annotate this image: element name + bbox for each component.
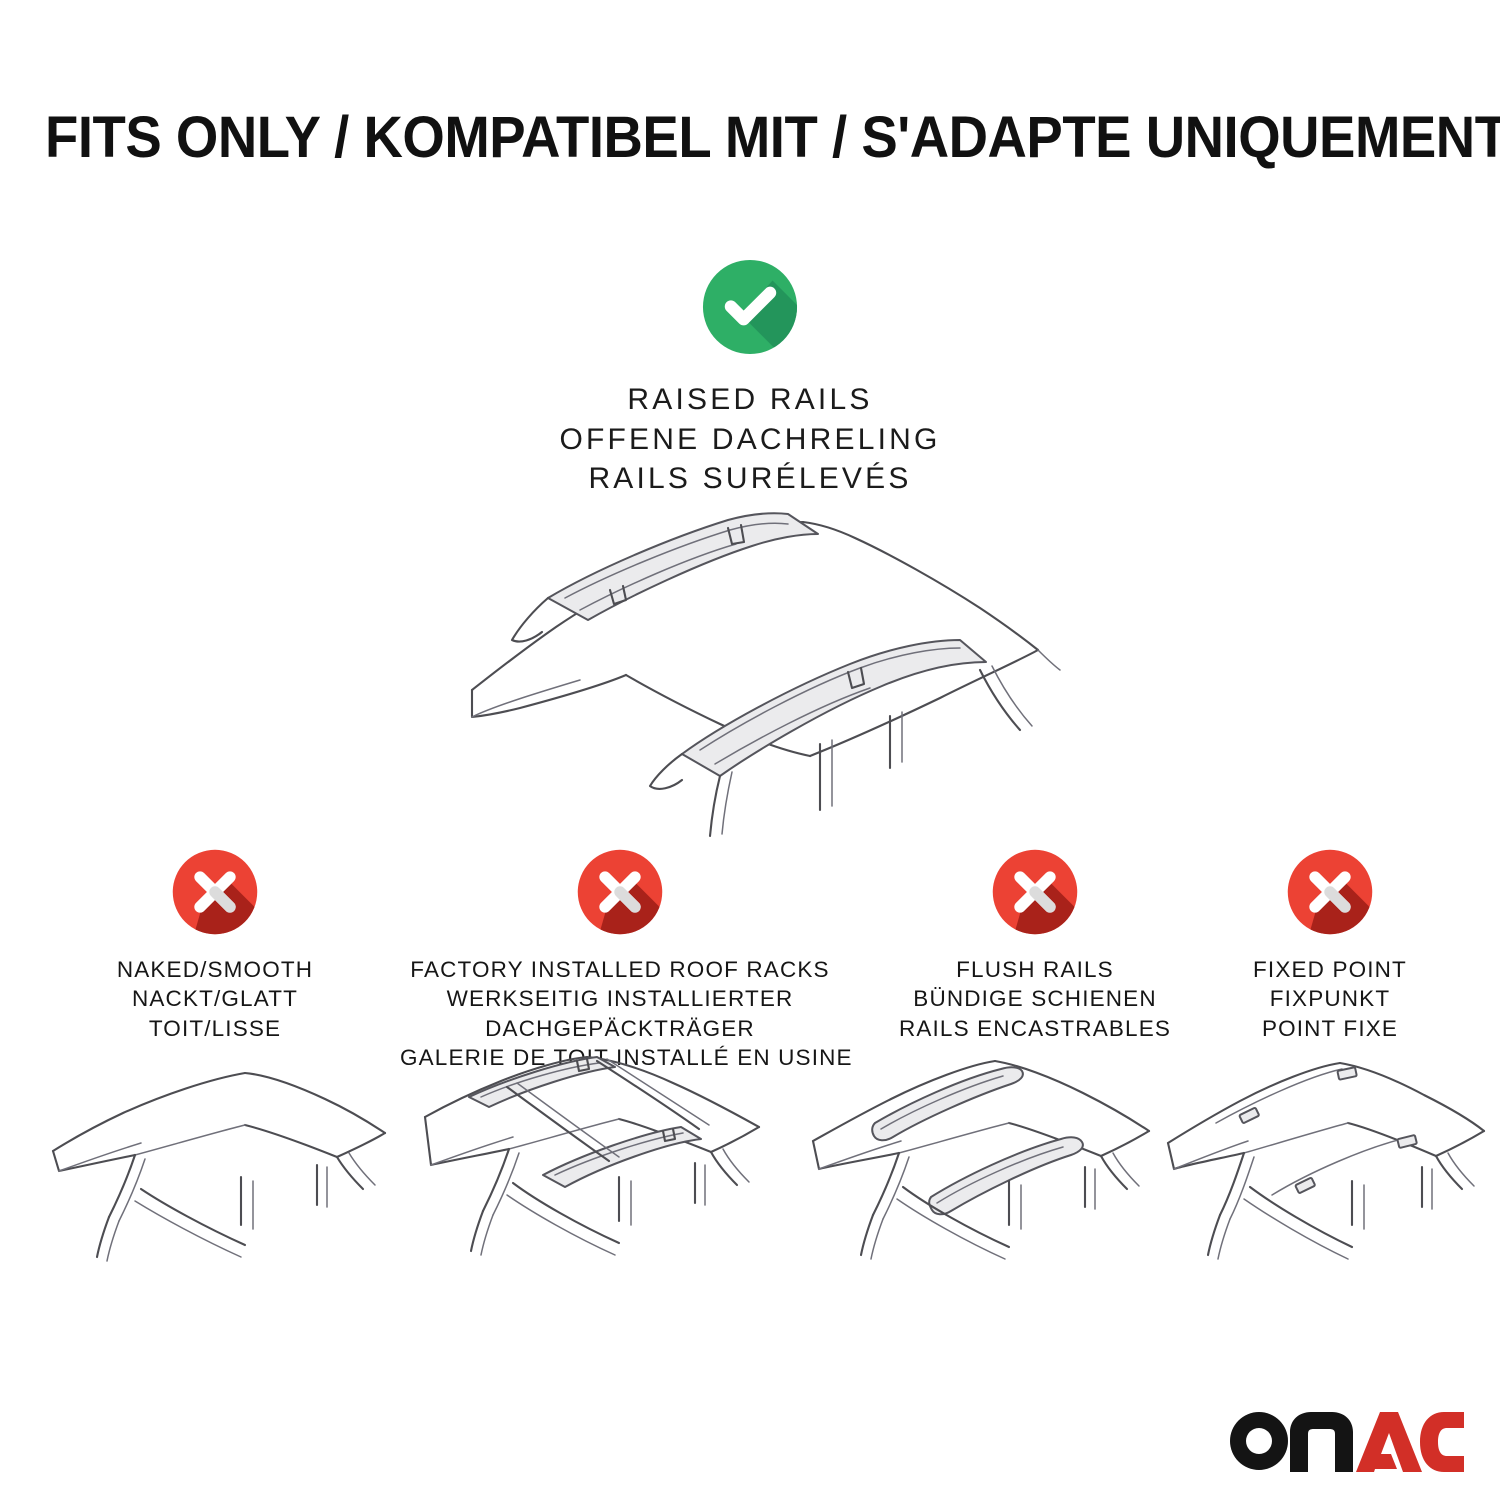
incompatible-0-line-2: NACKT/GLATT: [45, 984, 385, 1013]
incompatible-caption-flush-rails: FLUSH RAILS BÜNDIGE SCHIENEN RAILS ENCAS…: [845, 955, 1225, 1043]
incompatible-1-line-3: DACHGEPÄCKTRÄGER: [400, 1014, 840, 1043]
incompatible-item-factory-roof-racks: FACTORY INSTALLED ROOF RACKS WERKSEITIG …: [400, 848, 840, 1072]
omac-logo: [1228, 1410, 1464, 1472]
incompatible-1-line-2: WERKSEITIG INSTALLIERTER: [400, 984, 840, 1013]
page-title: FITS ONLY / KOMPATIBEL MIT / S'ADAPTE UN…: [45, 104, 1455, 171]
x-circle-icon: [1286, 848, 1374, 936]
incompatible-item-naked-smooth: NAKED/SMOOTH NACKT/GLATT TOIT/LISSE: [45, 848, 385, 1043]
incompatible-2-line-2: BÜNDIGE SCHIENEN: [845, 984, 1225, 1013]
incompatible-3-line-3: POINT FIXE: [1175, 1014, 1485, 1043]
incompatible-2-line-1: FLUSH RAILS: [845, 955, 1225, 984]
car-roof-fixed-point-illustration: [1160, 1055, 1490, 1290]
incompatible-0-line-3: TOIT/LISSE: [45, 1014, 385, 1043]
x-circle-icon: [991, 848, 1079, 936]
incompatible-caption-naked-smooth: NAKED/SMOOTH NACKT/GLATT TOIT/LISSE: [45, 955, 385, 1043]
car-roof-naked-smooth-illustration: [45, 1055, 395, 1290]
incompatible-3-line-2: FIXPUNKT: [1175, 984, 1485, 1013]
incompatible-1-line-1: FACTORY INSTALLED ROOF RACKS: [400, 955, 840, 984]
incompatible-0-line-1: NAKED/SMOOTH: [45, 955, 385, 984]
compatible-block: RAISED RAILS OFFENE DACHRELING RAILS SUR…: [0, 258, 1500, 499]
incompatible-caption-fixed-point: FIXED POINT FIXPUNKT POINT FIXE: [1175, 955, 1485, 1043]
car-roof-raised-rails-illustration: [420, 500, 1110, 840]
x-circle-icon: [576, 848, 664, 936]
incompatible-item-flush-rails: FLUSH RAILS BÜNDIGE SCHIENEN RAILS ENCAS…: [845, 848, 1225, 1043]
compatible-line-3: RAILS SURÉLEVÉS: [0, 459, 1500, 499]
compatible-caption: RAISED RAILS OFFENE DACHRELING RAILS SUR…: [0, 380, 1500, 499]
incompatible-2-line-3: RAILS ENCASTRABLES: [845, 1014, 1225, 1043]
x-circle-icon: [171, 848, 259, 936]
incompatible-3-line-1: FIXED POINT: [1175, 955, 1485, 984]
compatible-line-1: RAISED RAILS: [0, 380, 1500, 420]
incompatible-item-fixed-point: FIXED POINT FIXPUNKT POINT FIXE: [1175, 848, 1485, 1043]
car-roof-factory-roof-racks-illustration: [415, 1055, 775, 1290]
check-circle-icon: [701, 258, 799, 356]
incompatible-row: NAKED/SMOOTH NACKT/GLATT TOIT/LISSE FACT…: [0, 848, 1500, 1058]
compatible-line-2: OFFENE DACHRELING: [0, 420, 1500, 460]
car-roof-flush-rails-illustration: [805, 1055, 1165, 1290]
